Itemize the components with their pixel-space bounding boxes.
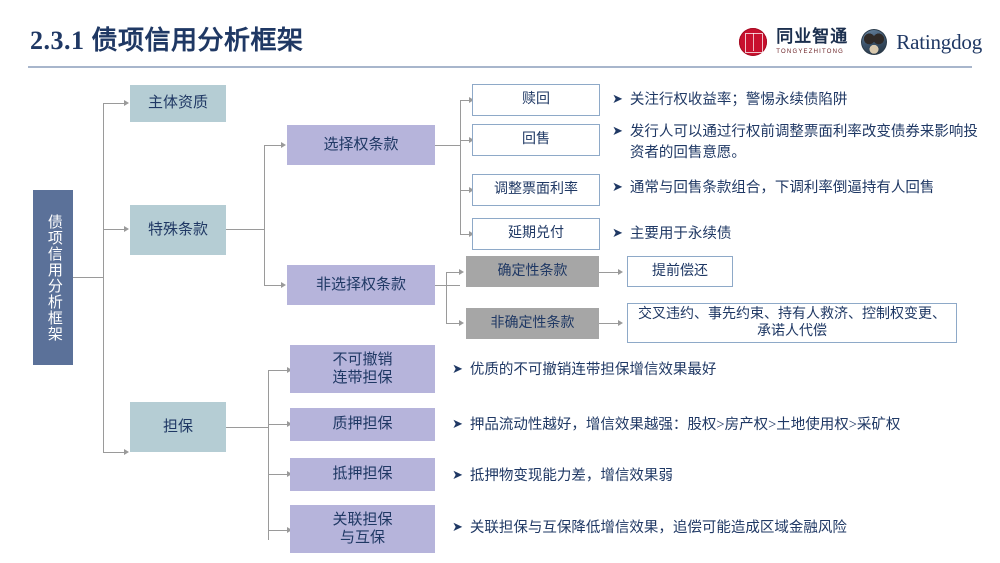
arrow-to-level1-2 [124, 226, 129, 232]
guarantee-note-text-2: 押品流动性越好，增信效果越强：股权>房产权>土地使用权>采矿权 [470, 415, 901, 436]
ratingdog-label: Ratingdog [896, 30, 982, 55]
option-term-note-text-2: 发行人可以通过行权前调整票面利率改变债券来影响投资者的回售意愿。 [630, 122, 980, 164]
page-title: 2.3.1 债项信用分析框架 [30, 20, 304, 57]
nonoption-detail-label-1: 提前偿还 [652, 263, 708, 280]
connector-guarantee-stem [226, 427, 268, 428]
guarantee-label-4: 关联担保 与互保 [332, 511, 392, 548]
option-term-note-3: ➤ 通常与回售条款组合，下调利率倒逼持有人回售 [612, 178, 980, 199]
guarantee-note-text-4: 关联担保与互保降低增信效果，追偿可能造成区域金融风险 [470, 518, 847, 539]
tongyezhitong-wordmark: 同业智通 TONGYEZHITONG [776, 29, 848, 55]
option-term-note-text-1: 关注行权收益率；警惕永续债陷阱 [630, 90, 848, 111]
level2-label-2: 非选择权条款 [316, 276, 406, 294]
arrow-to-level1-3 [124, 449, 129, 455]
title-divider [28, 66, 972, 68]
guarantee-label-1: 不可撤销 连带担保 [332, 351, 392, 388]
connector-nonoption-spine [446, 272, 447, 323]
option-term-note-1: ➤ 关注行权收益率；警惕永续债陷阱 [612, 90, 992, 111]
guarantee-box-1: 不可撤销 连带担保 [290, 345, 435, 393]
option-term-label-3: 调整票面利率 [494, 181, 578, 198]
ratingdog-avatar-icon [861, 29, 887, 55]
arrow-to-level2-1 [281, 142, 286, 148]
nonoption-detail-box-2: 交叉违约、事先约束、持有人救济、控制权变更、承诺人代偿 [627, 303, 957, 343]
nonoption-term-box-1: 确定性条款 [466, 256, 599, 287]
connector-special-stem [226, 229, 264, 230]
option-term-label-1: 赎回 [522, 91, 550, 108]
connector-level1-spine [103, 103, 104, 452]
guarantee-label-3: 抵押担保 [332, 465, 392, 483]
guarantee-note-4: ➤ 关联担保与互保降低增信效果，追偿可能造成区域金融风险 [452, 518, 987, 539]
level1-node-guarantee: 担保 [130, 402, 226, 452]
level2-node-option-terms: 选择权条款 [287, 125, 435, 165]
bullet-arrow-icon: ➤ [612, 122, 623, 142]
option-term-box-3: 调整票面利率 [472, 174, 600, 206]
level1-node-special-terms: 特殊条款 [130, 205, 226, 255]
arrow-to-detail-1 [618, 269, 623, 275]
option-term-box-2: 回售 [472, 124, 600, 156]
bullet-arrow-icon: ➤ [452, 518, 463, 538]
guarantee-note-2: ➤ 押品流动性越好，增信效果越强：股权>房产权>土地使用权>采矿权 [452, 415, 997, 436]
option-term-label-2: 回售 [522, 131, 550, 148]
level1-label-1: 主体资质 [148, 94, 208, 112]
bullet-arrow-icon: ➤ [452, 466, 463, 486]
option-term-note-2: ➤ 发行人可以通过行权前调整票面利率改变债券来影响投资者的回售意愿。 [612, 122, 980, 164]
tongyezhitong-en-label: TONGYEZHITONG [776, 49, 848, 55]
option-term-note-text-4: 主要用于永续债 [630, 224, 732, 245]
guarantee-note-text-1: 优质的不可撤销连带担保增信效果最好 [470, 360, 717, 381]
level1-label-2: 特殊条款 [148, 221, 208, 239]
connector-to-level2-1 [264, 145, 282, 146]
slide-canvas: 2.3.1 债项信用分析框架 同业智通 TONGYEZHITONG Rating… [0, 0, 1000, 563]
connector-nonoption-stem [435, 285, 460, 286]
level1-label-3: 担保 [163, 418, 193, 436]
logo-group: 同业智通 TONGYEZHITONG Ratingdog [739, 24, 982, 60]
arrow-to-level1-1 [124, 100, 129, 106]
connector-level2-spine [264, 145, 265, 285]
level2-node-non-option-terms: 非选择权条款 [287, 265, 435, 305]
connector-to-level1-3 [103, 452, 125, 453]
guarantee-label-2: 质押担保 [332, 415, 392, 433]
arrow-to-detail-2 [618, 320, 623, 326]
connector-to-level1-2 [103, 229, 125, 230]
guarantee-box-4: 关联担保 与互保 [290, 505, 435, 553]
arrow-to-level2-2 [281, 282, 286, 288]
option-term-box-4: 延期兑付 [472, 218, 600, 250]
connector-to-level2-2 [264, 285, 282, 286]
option-term-note-4: ➤ 主要用于永续债 [612, 224, 992, 245]
connector-detail-2 [599, 323, 619, 324]
bullet-arrow-icon: ➤ [612, 90, 623, 110]
guarantee-box-3: 抵押担保 [290, 458, 435, 491]
connector-to-guarantee-2 [268, 424, 288, 425]
connector-to-nonoption-2 [446, 323, 460, 324]
guarantee-note-1: ➤ 优质的不可撤销连带担保增信效果最好 [452, 360, 982, 381]
root-node-label: 债项信用分析框架 [44, 214, 62, 342]
connector-option-stem [435, 145, 460, 146]
connector-detail-1 [599, 272, 619, 273]
bullet-arrow-icon: ➤ [612, 178, 623, 198]
connector-to-guarantee-1 [268, 370, 288, 371]
nonoption-term-box-2: 非确定性条款 [466, 308, 599, 339]
connector-guarantee-spine [268, 370, 269, 540]
connector-option-spine [460, 100, 461, 234]
nonoption-term-label-2: 非确定性条款 [491, 315, 575, 332]
tongyezhitong-cn-label: 同业智通 [776, 29, 848, 46]
arrow-to-nonoption-1 [459, 269, 464, 275]
guarantee-note-3: ➤ 抵押物变现能力差，增信效果弱 [452, 466, 982, 487]
bullet-arrow-icon: ➤ [612, 224, 623, 244]
guarantee-note-text-3: 抵押物变现能力差，增信效果弱 [470, 466, 673, 487]
bullet-arrow-icon: ➤ [452, 360, 463, 380]
nonoption-detail-box-1: 提前偿还 [627, 256, 733, 287]
guarantee-box-2: 质押担保 [290, 408, 435, 441]
option-term-box-1: 赎回 [472, 84, 600, 116]
bullet-arrow-icon: ➤ [452, 415, 463, 435]
nonoption-detail-label-2: 交叉违约、事先约束、持有人救济、控制权变更、承诺人代偿 [636, 306, 948, 340]
connector-to-nonoption-1 [446, 272, 460, 273]
connector-to-guarantee-4 [268, 530, 288, 531]
tongyezhitong-seal-icon [739, 28, 767, 56]
arrow-to-nonoption-2 [459, 320, 464, 326]
connector-to-level1-1 [103, 103, 125, 104]
level1-node-issuer-quality: 主体资质 [130, 85, 226, 122]
connector-to-guarantee-3 [268, 474, 288, 475]
level2-label-1: 选择权条款 [323, 136, 398, 154]
option-term-note-text-3: 通常与回售条款组合，下调利率倒逼持有人回售 [630, 178, 935, 199]
option-term-label-4: 延期兑付 [508, 225, 564, 242]
connector-root-stem [73, 277, 103, 278]
root-node-debt-credit-framework: 债项信用分析框架 [33, 190, 73, 365]
nonoption-term-label-1: 确定性条款 [498, 263, 568, 280]
